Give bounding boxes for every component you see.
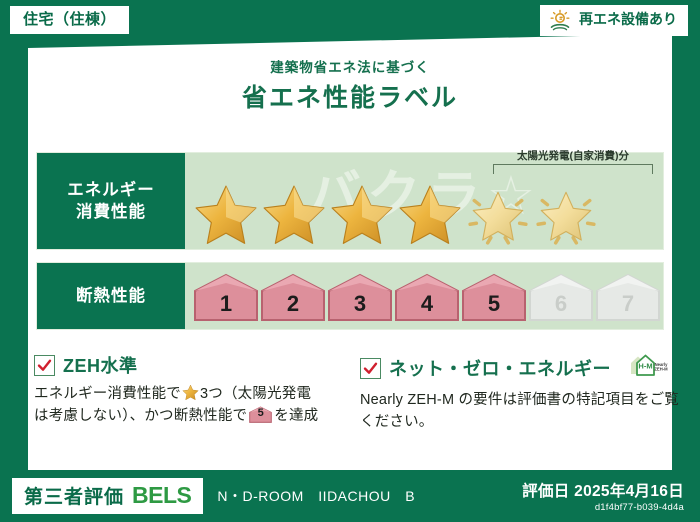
zeh-desc-part3: を達成 bbox=[274, 408, 318, 424]
net-zero-energy-block: ネット・ゼロ・エネルギー H-M Nearly ZEH-M Nearly ZEH… bbox=[360, 352, 680, 434]
net-zero-energy-description: Nearly ZEH-M の要件は評価書の特記項目をご覧ください。 bbox=[360, 390, 680, 434]
star-icon-filled-1 bbox=[193, 183, 259, 247]
building-type-tab: 住宅（住棟） bbox=[10, 6, 129, 34]
zeh-desc-starcount: 3つ（太陽光発電 bbox=[200, 386, 311, 402]
sun-icon bbox=[548, 9, 572, 31]
zeh-desc-part2: は考慮しない）、かつ断熱性能で bbox=[34, 408, 247, 424]
star-icon-solar-6 bbox=[533, 183, 599, 247]
star-icon-solar-5 bbox=[465, 183, 531, 247]
insulation-grade-value: 7 bbox=[622, 291, 634, 322]
evaluation-date: 評価日 2025年4月16日 bbox=[522, 479, 684, 501]
star-icon-filled-4 bbox=[397, 183, 463, 247]
zeh-m-logo-icon: H-M Nearly ZEH-M bbox=[619, 352, 669, 384]
energy-label-line2: 消費性能 bbox=[76, 201, 146, 223]
insulation-grade-5: 5 bbox=[461, 272, 527, 322]
label-subtitle: 建築物省エネ法に基づく bbox=[0, 56, 700, 76]
insulation-grade-value: 3 bbox=[354, 291, 366, 322]
solar-bracket bbox=[493, 164, 653, 174]
zeh-standard-description: エネルギー消費性能で3つ（太陽光発電 は考慮しない）、かつ断熱性能で5を達成 bbox=[34, 384, 346, 428]
net-zero-energy-header: ネット・ゼロ・エネルギー H-M Nearly ZEH-M bbox=[360, 352, 680, 384]
bels-en-label: BELS bbox=[132, 482, 191, 509]
solar-portion-label: 太陽光発電(自家消費)分 bbox=[493, 151, 653, 163]
zeh-standard-block: ZEH水準 エネルギー消費性能で3つ（太陽光発電 は考慮しない）、かつ断熱性能で… bbox=[34, 352, 346, 428]
evaluation-id: d1f4bf77-b039-4d4a bbox=[522, 502, 684, 513]
label-title-block: 建築物省エネ法に基づく 省エネ性能ラベル bbox=[0, 56, 700, 114]
insulation-grade-area: 1 2 3 4 5 bbox=[185, 263, 663, 329]
energy-rating-area: バクラ☆ 太陽光発電(自家消費)分 bbox=[185, 153, 663, 249]
insulation-grade-3: 3 bbox=[327, 272, 393, 322]
insulation-grade-6: 6 bbox=[528, 272, 594, 322]
energy-performance-label: エネルギー 消費性能 bbox=[37, 153, 185, 249]
insulation-grade-inline-badge: 5 bbox=[249, 406, 272, 423]
evaluation-info: 評価日 2025年4月16日 d1f4bf77-b039-4d4a bbox=[522, 479, 684, 513]
zeh-standard-header: ZEH水準 bbox=[34, 352, 346, 378]
check-icon bbox=[34, 355, 55, 376]
net-zero-energy-title: ネット・ゼロ・エネルギー bbox=[389, 355, 611, 381]
insulation-grade-inline-value: 5 bbox=[249, 406, 272, 423]
renewable-energy-badge: 再エネ設備あり bbox=[540, 5, 688, 36]
insulation-label-text: 断熱性能 bbox=[76, 285, 146, 307]
insulation-grade-value: 2 bbox=[287, 291, 299, 322]
check-icon bbox=[360, 358, 381, 379]
insulation-grade-4: 4 bbox=[394, 272, 460, 322]
insulation-grade-list: 1 2 3 4 5 bbox=[193, 268, 657, 325]
footer-bar: 第三者評価 BELS N・D-ROOM IIDACHOU B 評価日 2025年… bbox=[0, 470, 700, 522]
bels-certification-badge: 第三者評価 BELS bbox=[12, 478, 203, 514]
insulation-grade-value: 1 bbox=[220, 291, 232, 322]
insulation-grade-value: 6 bbox=[555, 291, 567, 322]
energy-label-root: 住宅（住棟） 再エネ設備あり 建築物省エネ法に基づく 省エネ性能ラベル エネルギ bbox=[0, 0, 700, 522]
star-icon-inline bbox=[182, 384, 199, 401]
star-icon-filled-2 bbox=[261, 183, 327, 247]
zeh-desc-part1: エネルギー消費性能で bbox=[34, 386, 181, 402]
insulation-performance-row: 断熱性能 1 2 3 4 bbox=[36, 262, 664, 330]
insulation-grade-7: 7 bbox=[595, 272, 661, 322]
insulation-grade-value: 4 bbox=[421, 291, 433, 322]
insulation-performance-label: 断熱性能 bbox=[37, 263, 185, 329]
energy-star-rating bbox=[193, 183, 657, 247]
energy-performance-row: エネルギー 消費性能 バクラ☆ 太陽光発電(自家消費)分 bbox=[36, 152, 664, 250]
energy-label-line1: エネルギー bbox=[67, 179, 155, 201]
bels-jp-label: 第三者評価 bbox=[24, 482, 124, 509]
zeh-standard-title: ZEH水準 bbox=[63, 352, 138, 378]
svg-text:ZEH-M: ZEH-M bbox=[654, 367, 668, 372]
insulation-grade-1: 1 bbox=[193, 272, 259, 322]
building-name: N・D-ROOM IIDACHOU B bbox=[217, 486, 522, 506]
label-title: 省エネ性能ラベル bbox=[0, 78, 700, 114]
building-type-label: 住宅（住棟） bbox=[23, 11, 116, 28]
insulation-grade-value: 5 bbox=[488, 291, 500, 322]
renewable-energy-label: 再エネ設備あり bbox=[579, 12, 677, 27]
star-icon-filled-3 bbox=[329, 183, 395, 247]
solar-portion-annotation: 太陽光発電(自家消費)分 bbox=[493, 151, 653, 174]
insulation-grade-2: 2 bbox=[260, 272, 326, 322]
svg-text:H-M: H-M bbox=[638, 362, 652, 371]
